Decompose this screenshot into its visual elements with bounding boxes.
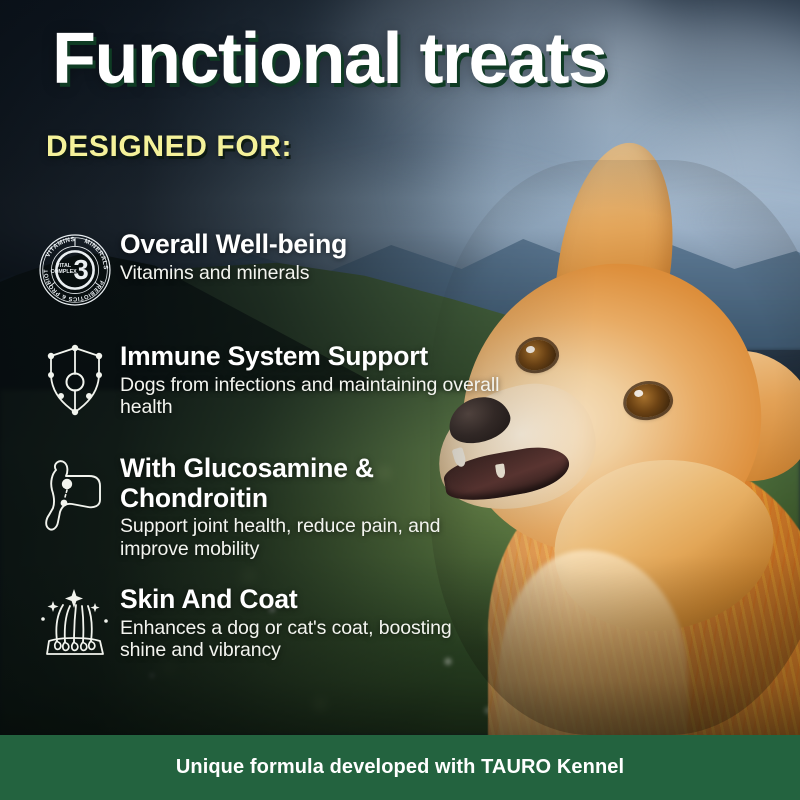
feature-text: Overall Well-being Vitamins and minerals [120, 228, 500, 284]
joint-bone-icon [30, 452, 120, 542]
feature-description: Enhances a dog or cat's coat, boosting s… [120, 617, 500, 663]
list-item: Immune System Support Dogs from infectio… [30, 340, 500, 430]
list-item: VITAMINS MINERALS PREBIOTICS & PROBIOTIC… [30, 228, 500, 318]
promo-poster: Functional treats DESIGNED FOR: [0, 0, 800, 800]
footer-bar: Unique formula developed with TAURO Kenn… [0, 735, 800, 800]
svg-text:COMPLEX: COMPLEX [50, 269, 77, 275]
footer-text: Unique formula developed with TAURO Kenn… [176, 756, 624, 779]
svg-text:VITAL: VITAL [56, 263, 72, 269]
poster-content: Functional treats DESIGNED FOR: [0, 0, 800, 800]
page-title: Functional treats [52, 22, 607, 98]
feature-title: Immune System Support [120, 342, 500, 372]
feature-title: With Glucosamine & Chondroitin [120, 454, 500, 513]
section-subheading: DESIGNED FOR: [46, 130, 292, 164]
feature-title: Overall Well-being [120, 230, 500, 260]
feature-list: VITAMINS MINERALS PREBIOTICS & PROBIOTIC… [30, 228, 500, 673]
feature-description: Dogs from infections and maintaining ove… [120, 374, 500, 420]
feature-text: With Glucosamine & Chondroitin Support j… [120, 452, 500, 561]
feature-title: Skin And Coat [120, 585, 500, 615]
feature-description: Vitamins and minerals [120, 262, 500, 285]
hair-follicle-sparkle-icon [30, 583, 120, 673]
list-item: With Glucosamine & Chondroitin Support j… [30, 452, 500, 561]
feature-text: Skin And Coat Enhances a dog or cat's co… [120, 583, 500, 662]
shield-icon [30, 340, 120, 430]
list-item: Skin And Coat Enhances a dog or cat's co… [30, 583, 500, 673]
vital-complex-badge-icon: VITAMINS MINERALS PREBIOTICS & PROBIOTIC… [30, 228, 120, 318]
feature-text: Immune System Support Dogs from infectio… [120, 340, 500, 419]
feature-description: Support joint health, reduce pain, and i… [120, 515, 500, 561]
